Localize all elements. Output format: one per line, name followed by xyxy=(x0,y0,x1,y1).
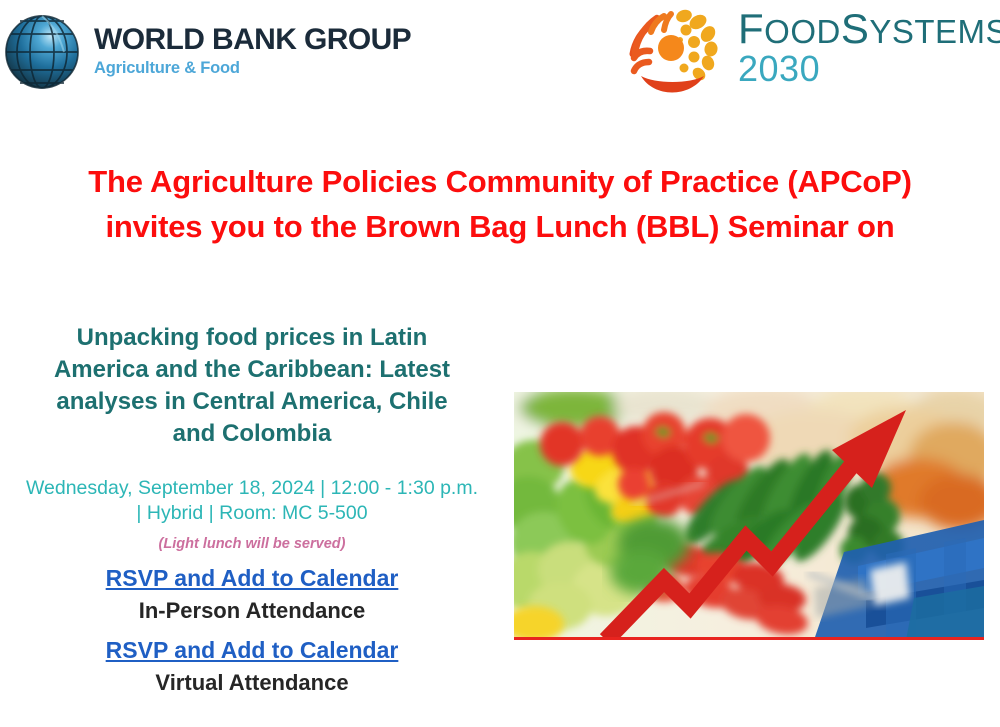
event-datetime-location: Wednesday, September 18, 2024 | 12:00 - … xyxy=(6,476,498,527)
world-bank-title: WORLD BANK GROUP xyxy=(94,24,411,56)
attendance-label-virtual: Virtual Attendance xyxy=(6,670,498,696)
attendance-label-in-person: In-Person Attendance xyxy=(6,598,498,624)
page-header: WORLD BANK GROUP Agriculture & Food xyxy=(0,0,1000,112)
globe-icon xyxy=(2,6,82,94)
foodsystems-wordmark: FOODSYSTEMS 2030 xyxy=(738,4,1000,87)
foodsystems-name-ood: OOD xyxy=(764,13,841,50)
invitation-headline: The Agriculture Policies Community of Pr… xyxy=(0,160,1000,250)
foodsystems-name-f: F xyxy=(738,5,764,52)
headline-line-2: invites you to the Brown Bag Lunch (BBL)… xyxy=(0,205,1000,250)
headline-line-1: The Agriculture Policies Community of Pr… xyxy=(0,160,1000,205)
rsvp-link-in-person[interactable]: RSVP and Add to Calendar xyxy=(6,565,498,593)
foodsystems-name: FOODSYSTEMS xyxy=(738,10,1000,49)
world-bank-group-logo: WORLD BANK GROUP Agriculture & Food xyxy=(2,6,411,94)
world-bank-subtitle: Agriculture & Food xyxy=(94,57,411,80)
event-details-column: Unpacking food prices in Latin America a… xyxy=(6,322,498,696)
foodsystems-name-s: S xyxy=(841,5,870,52)
foodsystems-sun-icon xyxy=(624,4,724,102)
foodsystems-name-ystems: YSTEMS xyxy=(869,13,1000,50)
vegetable-market-rising-price-arrow-photo xyxy=(514,392,984,640)
foodsystems-2030-logo: FOODSYSTEMS 2030 xyxy=(624,4,1000,102)
rsvp-link-virtual[interactable]: RSVP and Add to Calendar xyxy=(6,637,498,665)
seminar-title: Unpacking food prices in Latin America a… xyxy=(6,322,498,450)
world-bank-wordmark: WORLD BANK GROUP Agriculture & Food xyxy=(94,20,411,81)
foodsystems-year: 2030 xyxy=(738,50,1000,88)
lunch-note: (Light lunch will be served) xyxy=(6,536,498,552)
